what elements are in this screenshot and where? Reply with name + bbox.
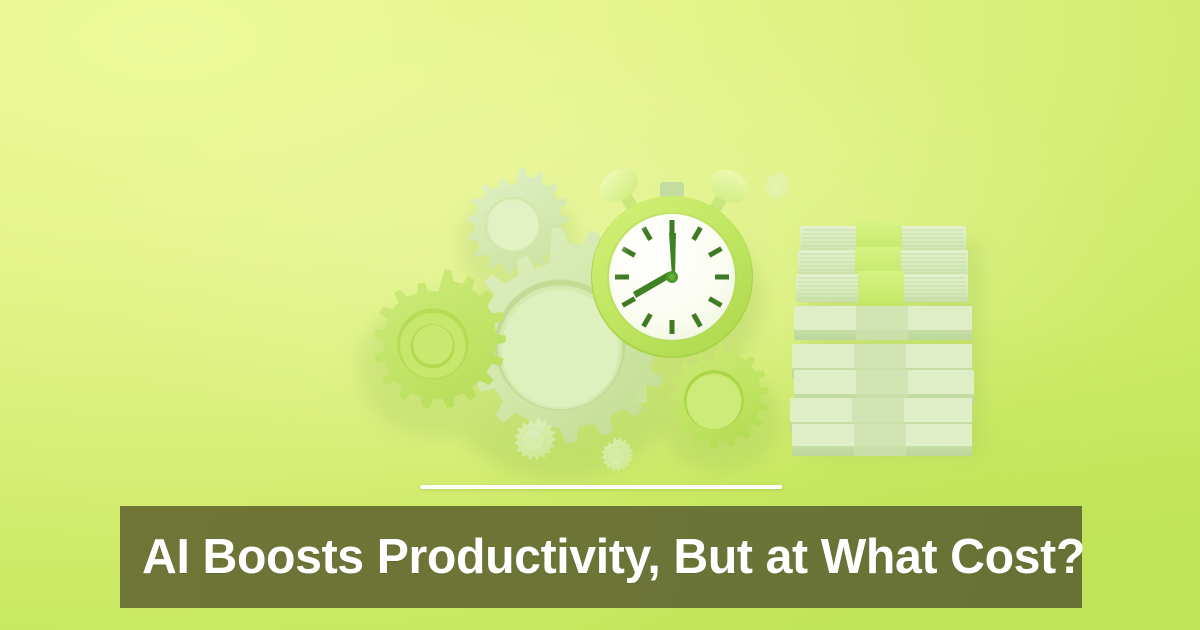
page-title: AI Boosts Productivity, But at What Cost… <box>142 533 1085 582</box>
title-banner: AI Boosts Productivity, But at What Cost… <box>120 506 1082 608</box>
hero-banner-image: AI Boosts Productivity, But at What Cost… <box>0 0 1200 630</box>
divider-rule <box>420 485 782 489</box>
